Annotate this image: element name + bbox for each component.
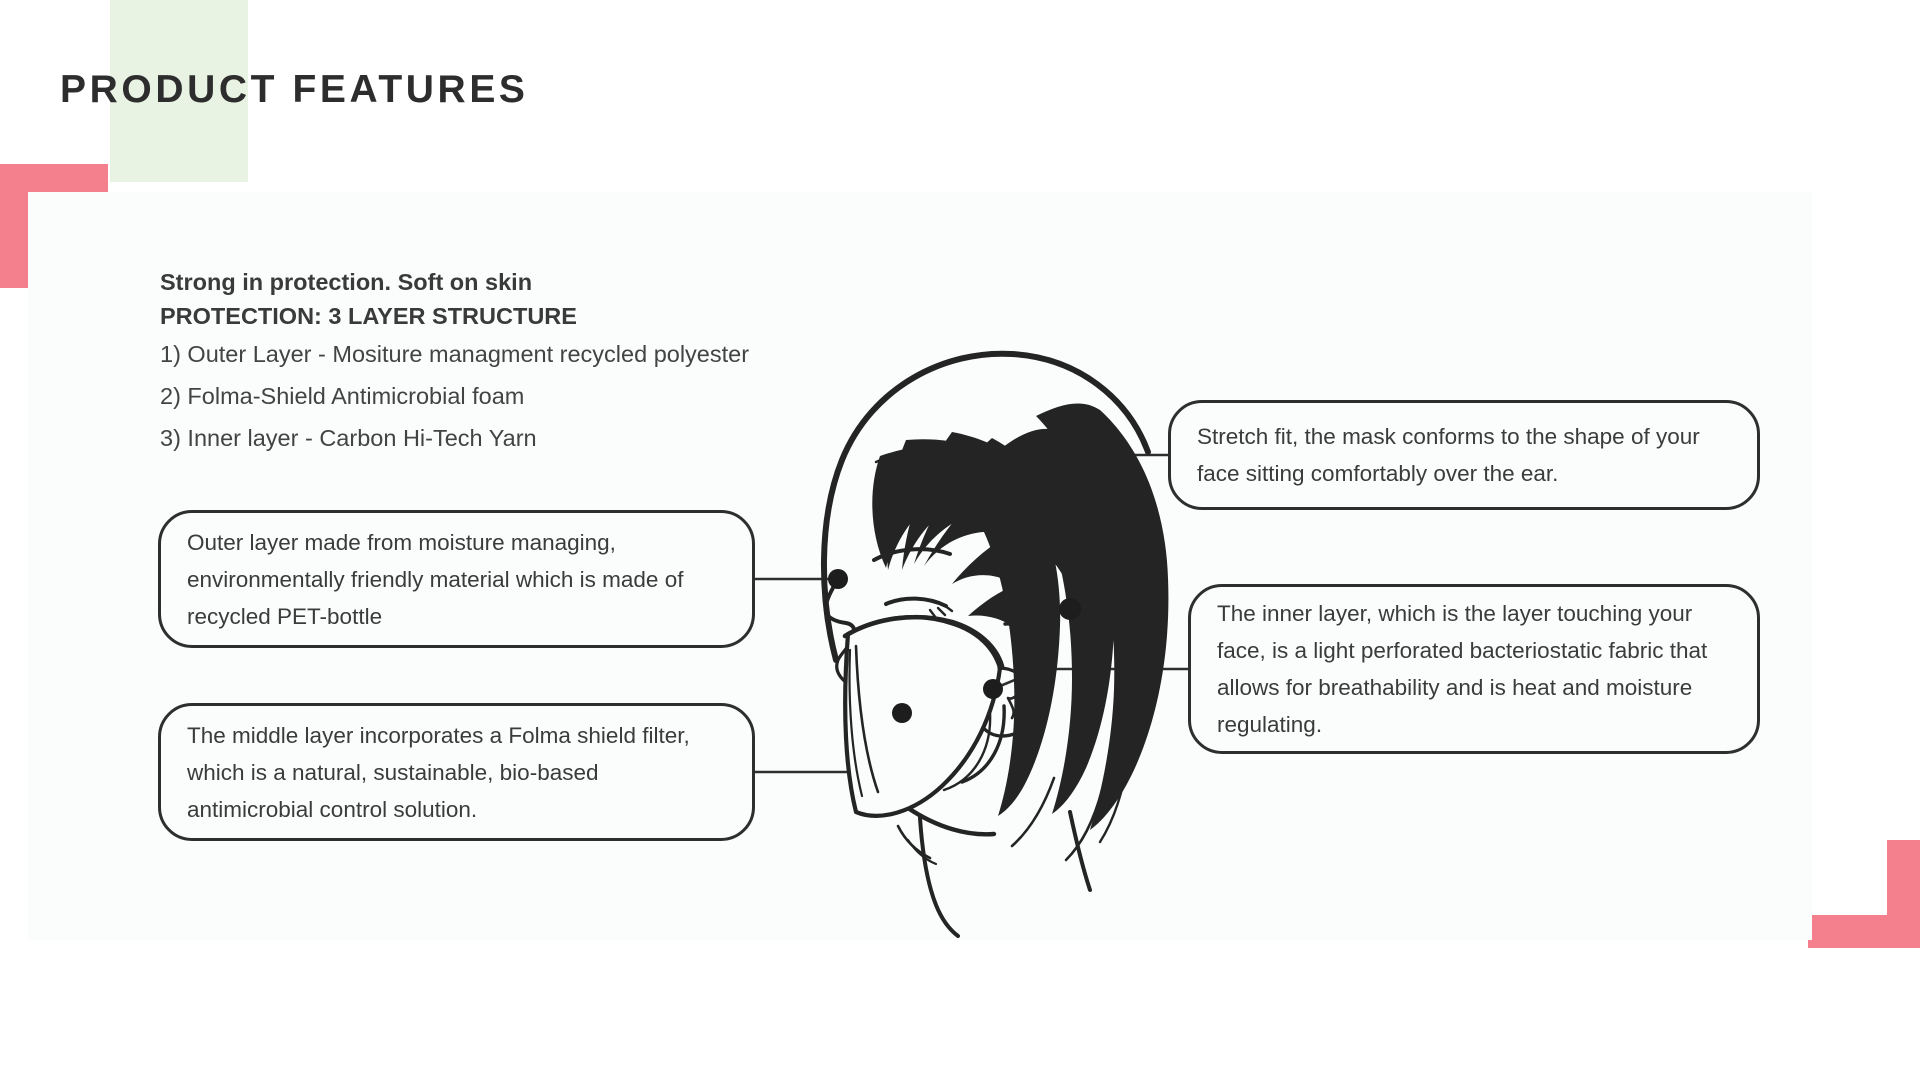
callout-inner-layer[interactable]: The inner layer, which is the layer touc… xyxy=(1188,584,1760,754)
pink-corner-bottom-right xyxy=(1808,840,1920,948)
layer-item-middle: 2) Folma-Shield Antimicrobial foam xyxy=(160,375,920,417)
slide-canvas: PRODUCT FEATURES Strong in protection. S… xyxy=(0,0,1920,1080)
intro-heading-tagline: Strong in protection. Soft on skin xyxy=(160,265,920,299)
callout-inner-layer-text: The inner layer, which is the layer touc… xyxy=(1191,595,1757,743)
layer-item-inner: 3) Inner layer - Carbon Hi-Tech Yarn xyxy=(160,417,920,459)
pink-corner-bottom-right-horizontal-bar xyxy=(1808,915,1920,948)
callout-outer-layer-text: Outer layer made from moisture managing,… xyxy=(161,524,752,635)
layer-item-outer: 1) Outer Layer - Mositure managment recy… xyxy=(160,333,920,375)
callout-middle-layer[interactable]: The middle layer incorporates a Folma sh… xyxy=(158,703,755,841)
callout-outer-layer[interactable]: Outer layer made from moisture managing,… xyxy=(158,510,755,648)
intro-text-block: Strong in protection. Soft on skin PROTE… xyxy=(160,265,920,459)
intro-heading-protection: PROTECTION: 3 LAYER STRUCTURE xyxy=(160,299,920,333)
page-title: PRODUCT FEATURES xyxy=(60,68,529,112)
callout-stretch-fit[interactable]: Stretch fit, the mask conforms to the sh… xyxy=(1168,400,1760,510)
callout-middle-layer-text: The middle layer incorporates a Folma sh… xyxy=(161,717,752,828)
callout-stretch-fit-text: Stretch fit, the mask conforms to the sh… xyxy=(1171,418,1757,492)
